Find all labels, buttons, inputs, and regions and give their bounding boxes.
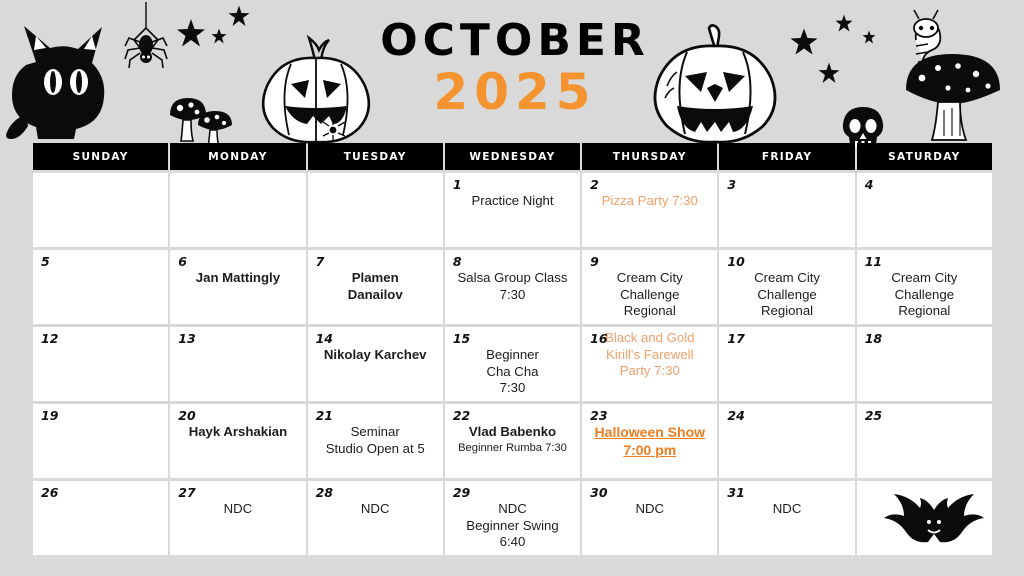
day-cell-26[interactable]: 26 — [33, 481, 168, 555]
star-icon — [176, 18, 206, 48]
weekday-header-sunday: SUNDAY — [33, 143, 168, 170]
event-text: Challenge — [588, 287, 711, 304]
day-cell-empty[interactable] — [857, 481, 992, 555]
day-number: 5 — [41, 254, 50, 269]
day-cell-22[interactable]: 22Vlad BabenkoBeginner Rumba 7:30 — [445, 404, 580, 478]
day-events: Cream CityChallengeRegional — [582, 270, 717, 320]
event-text: Halloween Show — [588, 424, 711, 442]
day-cell-20[interactable]: 20Hayk Arshakian — [170, 404, 305, 478]
day-cell-24[interactable]: 24 — [719, 404, 854, 478]
day-cell-5[interactable]: 5 — [33, 250, 168, 324]
hanging-spider-icon — [121, 2, 171, 76]
weekday-header-wednesday: WEDNESDAY — [445, 143, 580, 170]
day-number: 17 — [727, 331, 744, 346]
day-cell-28[interactable]: 28NDC — [308, 481, 443, 555]
day-cell-23[interactable]: 23Halloween Show7:00 pm — [582, 404, 717, 478]
title-month: OCTOBER — [380, 18, 650, 64]
day-cell-4[interactable]: 4 — [857, 173, 992, 247]
event-text: 7:30 — [451, 287, 574, 304]
day-cell-2[interactable]: 2Pizza Party 7:30 — [582, 173, 717, 247]
day-number: 27 — [178, 485, 195, 500]
day-events: NDC — [308, 501, 443, 518]
day-number: 1 — [453, 177, 462, 192]
event-text: Cream City — [725, 270, 848, 287]
day-cell-18[interactable]: 18 — [857, 327, 992, 401]
day-number: 3 — [727, 177, 736, 192]
event-text: Challenge — [863, 287, 986, 304]
day-number: 16 — [590, 331, 607, 346]
day-number: 23 — [590, 408, 607, 423]
day-cell-30[interactable]: 30NDC — [582, 481, 717, 555]
event-text: Beginner Rumba 7:30 — [451, 441, 574, 455]
event-text: Cha Cha — [451, 364, 574, 381]
jack-o-lantern-icon — [645, 22, 785, 144]
day-events: Cream CityChallengeRegional — [857, 270, 992, 320]
day-number: 24 — [727, 408, 744, 423]
worm-on-mushroom-icon — [898, 6, 1018, 142]
calendar-page: SUNDAY MONDAY TUESDAY WEDNESDAY THURSDAY… — [0, 0, 1024, 576]
day-cell-19[interactable]: 19 — [33, 404, 168, 478]
event-text: Party 7:30 — [588, 363, 711, 380]
day-cell-11[interactable]: 11Cream CityChallengeRegional — [857, 250, 992, 324]
day-events: NDC — [170, 501, 305, 518]
day-cell-12[interactable]: 12 — [33, 327, 168, 401]
day-cell-7[interactable]: 7PlamenDanailov — [308, 250, 443, 324]
day-number: 14 — [316, 331, 333, 346]
day-number: 15 — [453, 331, 470, 346]
event-text: Beginner — [451, 347, 574, 364]
day-number: 8 — [453, 254, 462, 269]
calendar-title: OCTOBER 2025 — [380, 18, 650, 119]
day-events: NDC — [719, 501, 854, 518]
star-icon — [818, 62, 840, 84]
event-text: Regional — [863, 303, 986, 320]
day-cell-10[interactable]: 10Cream CityChallengeRegional — [719, 250, 854, 324]
event-text: NDC — [314, 501, 437, 518]
weekday-header-saturday: SATURDAY — [857, 143, 992, 170]
day-cell-17[interactable]: 17 — [719, 327, 854, 401]
day-events: Hayk Arshakian — [170, 424, 305, 441]
event-text: NDC — [176, 501, 299, 518]
day-cell-31[interactable]: 31NDC — [719, 481, 854, 555]
day-number: 19 — [41, 408, 58, 423]
event-text: Regional — [588, 303, 711, 320]
jack-o-lantern-icon — [255, 32, 377, 144]
day-number: 28 — [316, 485, 333, 500]
event-text: Cream City — [588, 270, 711, 287]
day-number: 18 — [865, 331, 882, 346]
event-text: NDC — [588, 501, 711, 518]
day-cell-21[interactable]: 21SeminarStudio Open at 5 — [308, 404, 443, 478]
event-text: Pizza Party 7:30 — [588, 193, 711, 210]
event-text: Practice Night — [451, 193, 574, 210]
day-events: Vlad BabenkoBeginner Rumba 7:30 — [445, 424, 580, 455]
weekday-header-thursday: THURSDAY — [582, 143, 717, 170]
day-cell-16[interactable]: 16Black and GoldKirill's FarewellParty 7… — [582, 327, 717, 401]
day-events: NDC — [582, 501, 717, 518]
day-number: 31 — [727, 485, 744, 500]
star-icon — [211, 28, 227, 44]
day-number: 11 — [865, 254, 882, 269]
day-cell-15[interactable]: 15BeginnerCha Cha7:30 — [445, 327, 580, 401]
day-cell-empty[interactable] — [170, 173, 305, 247]
weekday-header-monday: MONDAY — [170, 143, 305, 170]
event-text: Danailov — [314, 287, 437, 304]
day-events: Pizza Party 7:30 — [582, 193, 717, 210]
bat-icon — [884, 490, 984, 553]
day-number: 21 — [316, 408, 333, 423]
event-text: Plamen — [314, 270, 437, 287]
day-number: 22 — [453, 408, 470, 423]
day-number: 29 — [453, 485, 470, 500]
day-events: Nikolay Karchev — [308, 347, 443, 364]
day-number: 12 — [41, 331, 58, 346]
star-icon — [790, 28, 818, 56]
day-cell-3[interactable]: 3 — [719, 173, 854, 247]
star-icon — [835, 14, 853, 32]
day-events: Salsa Group Class7:30 — [445, 270, 580, 303]
event-text: Beginner Swing — [451, 518, 574, 535]
star-icon — [862, 30, 876, 44]
event-text: Seminar — [314, 424, 437, 441]
day-events: NDCBeginner Swing6:40 — [445, 501, 580, 551]
day-events: SeminarStudio Open at 5 — [308, 424, 443, 457]
event-text: Kirill's Farewell — [588, 347, 711, 364]
event-text: Studio Open at 5 — [314, 441, 437, 458]
star-icon — [228, 5, 250, 27]
day-cell-empty[interactable] — [308, 173, 443, 247]
event-text: 7:30 — [451, 380, 574, 397]
day-events: Halloween Show7:00 pm — [582, 424, 717, 459]
event-text: Vlad Babenko — [451, 424, 574, 441]
event-text: NDC — [451, 501, 574, 518]
day-number: 10 — [727, 254, 744, 269]
event-text: Challenge — [725, 287, 848, 304]
event-text: Cream City — [863, 270, 986, 287]
event-text: Nikolay Karchev — [314, 347, 437, 364]
day-cell-25[interactable]: 25 — [857, 404, 992, 478]
calendar-grid: SUNDAY MONDAY TUESDAY WEDNESDAY THURSDAY… — [33, 143, 992, 555]
day-number: 30 — [590, 485, 607, 500]
day-number: 26 — [41, 485, 58, 500]
day-number: 6 — [178, 254, 187, 269]
weekday-header-friday: FRIDAY — [719, 143, 854, 170]
day-number: 13 — [178, 331, 195, 346]
event-text: Jan Mattingly — [176, 270, 299, 287]
day-cell-13[interactable]: 13 — [170, 327, 305, 401]
event-text: 7:00 pm — [588, 442, 711, 460]
day-cell-14[interactable]: 14Nikolay Karchev — [308, 327, 443, 401]
event-text: Hayk Arshakian — [176, 424, 299, 441]
day-events: BeginnerCha Cha7:30 — [445, 347, 580, 397]
skull-icon — [840, 106, 886, 148]
weekday-header-tuesday: TUESDAY — [308, 143, 443, 170]
day-events: Cream CityChallengeRegional — [719, 270, 854, 320]
day-number: 4 — [865, 177, 874, 192]
day-number: 25 — [865, 408, 882, 423]
day-number: 9 — [590, 254, 599, 269]
day-cell-6[interactable]: 6Jan Mattingly — [170, 250, 305, 324]
event-text: Regional — [725, 303, 848, 320]
day-number: 20 — [178, 408, 195, 423]
event-text: NDC — [725, 501, 848, 518]
day-events: Jan Mattingly — [170, 270, 305, 287]
day-number: 2 — [590, 177, 599, 192]
day-events: PlamenDanailov — [308, 270, 443, 303]
day-number: 7 — [316, 254, 325, 269]
title-year: 2025 — [380, 66, 650, 119]
event-text: 6:40 — [451, 534, 574, 551]
day-events: Practice Night — [445, 193, 580, 210]
black-cat-icon — [6, 18, 126, 140]
day-cell-27[interactable]: 27NDC — [170, 481, 305, 555]
day-cell-8[interactable]: 8Salsa Group Class7:30 — [445, 250, 580, 324]
day-cell-empty[interactable] — [33, 173, 168, 247]
event-text: Salsa Group Class — [451, 270, 574, 287]
day-cell-9[interactable]: 9Cream CityChallengeRegional — [582, 250, 717, 324]
day-cell-1[interactable]: 1Practice Night — [445, 173, 580, 247]
mushroom-icon — [196, 108, 234, 148]
day-cell-29[interactable]: 29NDCBeginner Swing6:40 — [445, 481, 580, 555]
